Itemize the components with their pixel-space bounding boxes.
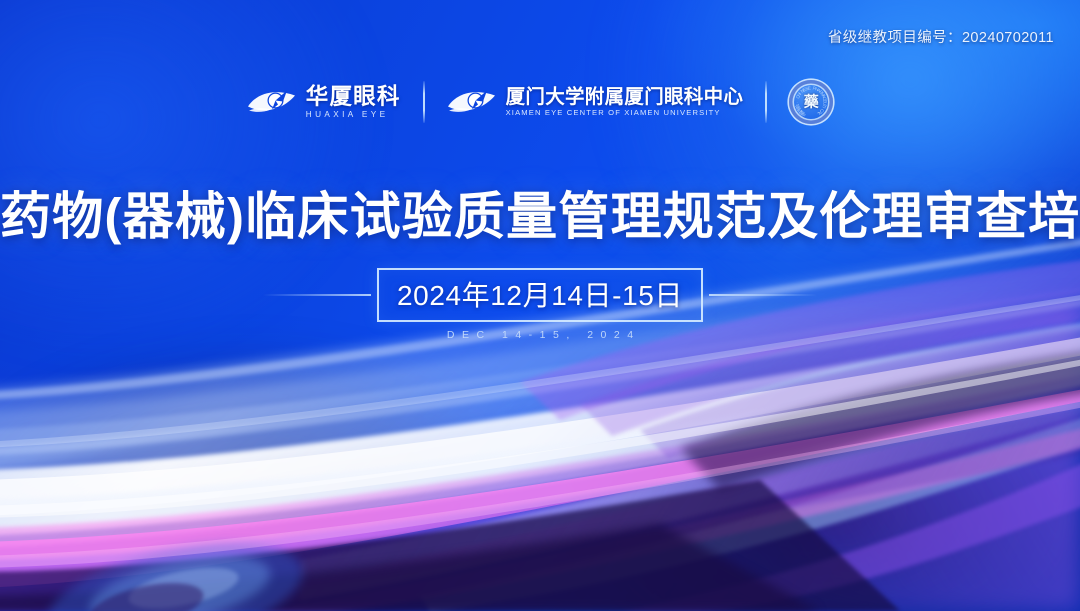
logo-divider-2 <box>765 81 767 123</box>
logo-huaxia-name-cn: 华厦眼科 <box>306 85 401 108</box>
date-rule-right <box>709 294 817 296</box>
logo-row: 华厦眼科 HUAXIA EYE 厦门大学附属厦门眼科中心 XIAMEN EYE … <box>0 78 1080 126</box>
date-badge: 2024年12月14日-15日 <box>377 268 703 322</box>
logo-huaxia-text: 华厦眼科 HUAXIA EYE <box>306 85 401 119</box>
page-title: 药物(器械)临床试验质量管理规范及伦理审查培训班 <box>0 188 1080 245</box>
logo-xiamen-name-cn: 厦门大学附属厦门眼科中心 <box>506 87 744 107</box>
logo-divider-1 <box>423 81 425 123</box>
logo-xiamen-eye-center: 厦门大学附属厦门眼科中心 XIAMEN EYE CENTER OF XIAMEN… <box>447 79 744 125</box>
project-number-label: 省级继教项目编号：20240702011 <box>828 26 1054 47</box>
logo-xiamen-text: 厦门大学附属厦门眼科中心 XIAMEN EYE CENTER OF XIAMEN… <box>506 87 744 118</box>
date-english-label: DEC 14-15, 2024 <box>439 329 640 341</box>
logo-xiamen-name-en: XIAMEN EYE CENTER OF XIAMEN UNIVERSITY <box>506 109 744 117</box>
date-rule-left <box>263 294 371 296</box>
logo-huaxia-eye: 华厦眼科 HUAXIA EYE <box>247 79 401 125</box>
logo-huaxia-name-en: HUAXIA EYE <box>306 110 401 119</box>
seal-ring-text: 中国药学会 · CHINESE PHARMACEUTICAL <box>789 80 833 124</box>
conference-banner: 省级继教项目编号：20240702011 华厦眼科 HUAXIA EYE <box>0 0 1080 611</box>
eye-logo-icon <box>447 87 497 117</box>
circular-seal-icon: 藥 中国药学会 · CHINESE PHARMACEUTICAL <box>789 80 833 124</box>
eye-logo-icon <box>247 87 297 117</box>
date-block: 2024年12月14日-15日 DEC 14-15, 2024 <box>0 268 1080 341</box>
date-line-row: 2024年12月14日-15日 <box>0 268 1080 322</box>
